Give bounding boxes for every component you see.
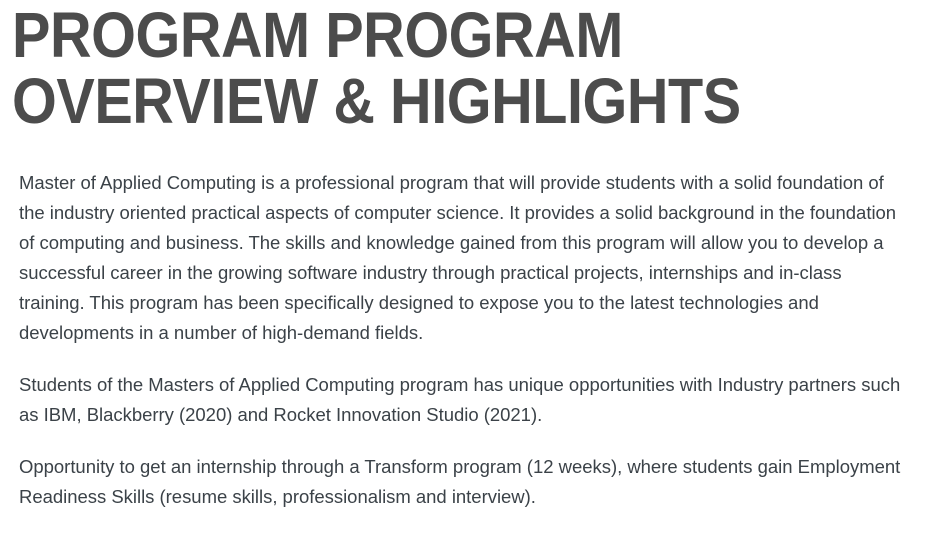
document-page: PROGRAM PROGRAM OVERVIEW & HIGHLIGHTS Ma…: [0, 0, 927, 551]
body-content: Master of Applied Computing is a profess…: [19, 168, 905, 512]
paragraph-industry-partners: Students of the Masters of Applied Compu…: [19, 370, 905, 430]
page-title: PROGRAM PROGRAM OVERVIEW & HIGHLIGHTS: [12, 2, 822, 134]
paragraph-intro: Master of Applied Computing is a profess…: [19, 168, 905, 348]
paragraph-internship: Opportunity to get an internship through…: [19, 452, 905, 512]
